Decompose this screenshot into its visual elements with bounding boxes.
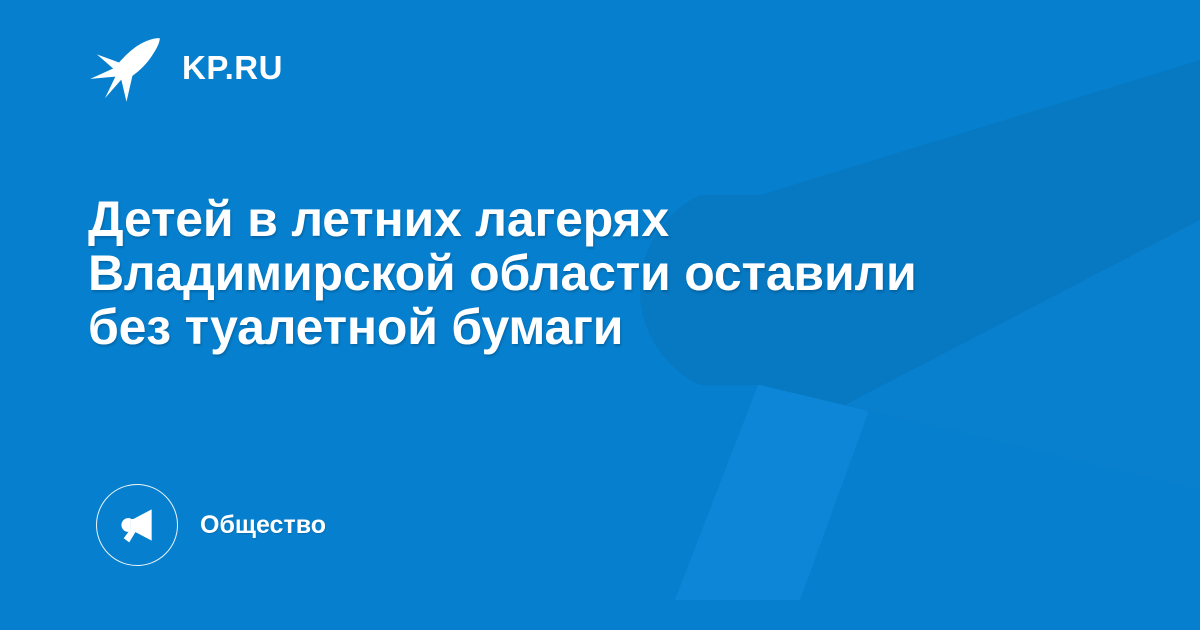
category-badge[interactable]: Общество (96, 484, 326, 566)
headline-line-2: Владимирской области оставили (88, 246, 1048, 300)
brand-header[interactable]: KP.RU (88, 30, 283, 104)
brand-name: KP.RU (182, 51, 283, 84)
page-title: Детей в летних лагерях Владимирской обла… (88, 192, 1048, 354)
swallow-bird-icon (88, 30, 162, 104)
social-share-card: KP.RU Детей в летних лагерях Владимирско… (0, 0, 1200, 630)
category-label: Общество (200, 513, 326, 538)
headline-line-3: без туалетной бумаги (88, 300, 1048, 354)
category-icon-circle (96, 484, 178, 566)
headline-line-1: Детей в летних лагерях (88, 192, 1048, 246)
megaphone-icon (115, 503, 159, 547)
